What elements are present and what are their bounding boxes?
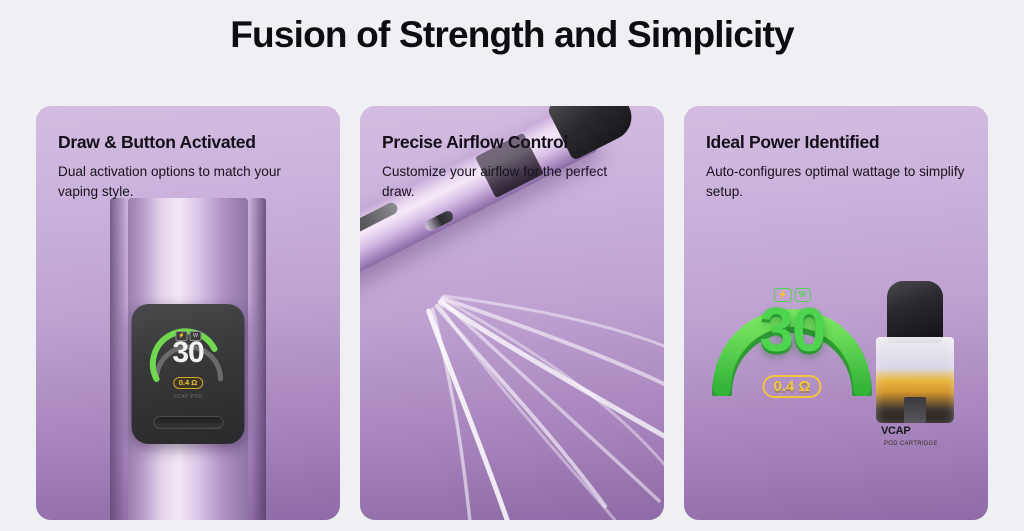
page-title: Fusion of Strength and Simplicity <box>0 0 1024 57</box>
fire-button[interactable] <box>153 416 223 429</box>
card-1-text: Draw & Button Activated Dual activation … <box>36 106 340 202</box>
pod-sub-label: POD CARTRIDGE <box>884 441 938 447</box>
card-description: Dual activation options to match your va… <box>58 162 318 202</box>
pod-tank: VCAP POD CARTRIDGE <box>876 337 954 423</box>
resistance-badge: 0.4 Ω <box>173 377 204 389</box>
wattage-value: 30 <box>148 338 228 368</box>
pod-cartridge: VCAP POD CARTRIDGE <box>876 281 954 423</box>
display-sub-label: VCAP POD <box>148 394 228 400</box>
pod-brand-label: VCAP <box>881 425 910 437</box>
card-2-text: Precise Airflow Control Customize your a… <box>360 106 664 202</box>
device-right-edge <box>250 198 266 520</box>
power-gauge: ⚡ W 30 0.4 Ω VCAP POD <box>148 317 228 391</box>
resistance-badge: 0.4 Ω <box>762 375 821 398</box>
wattage-value: 30 <box>702 300 882 362</box>
card-heading: Ideal Power Identified <box>706 132 966 153</box>
card-3-text: Ideal Power Identified Auto-configures o… <box>684 106 988 202</box>
card-description: Auto-configures optimal wattage to simpl… <box>706 162 966 202</box>
pod-coil <box>904 397 926 423</box>
feature-cards-row: ⚡ W 30 0.4 Ω VCAP POD Draw & Button Acti… <box>36 106 988 520</box>
card-description: Customize your airflow for the perfect d… <box>382 162 642 202</box>
device-screen-panel: ⚡ W 30 0.4 Ω VCAP POD <box>132 304 245 444</box>
card-heading: Draw & Button Activated <box>58 132 318 153</box>
device-side-strip <box>360 201 399 253</box>
feature-card-ideal-power-identified[interactable]: ⚡ W 30 0.4 Ω VCAP POD CARTRIDGE Ideal Po… <box>684 106 988 520</box>
power-gauge-large: ⚡ W 30 0.4 Ω <box>702 266 882 396</box>
card-heading: Precise Airflow Control <box>382 132 642 153</box>
feature-card-precise-airflow-control[interactable]: Precise Airflow Control Customize your a… <box>360 106 664 520</box>
pod-mouthpiece <box>887 281 943 343</box>
device-left-edge <box>110 198 126 520</box>
feature-card-draw-button-activated[interactable]: ⚡ W 30 0.4 Ω VCAP POD Draw & Button Acti… <box>36 106 340 520</box>
